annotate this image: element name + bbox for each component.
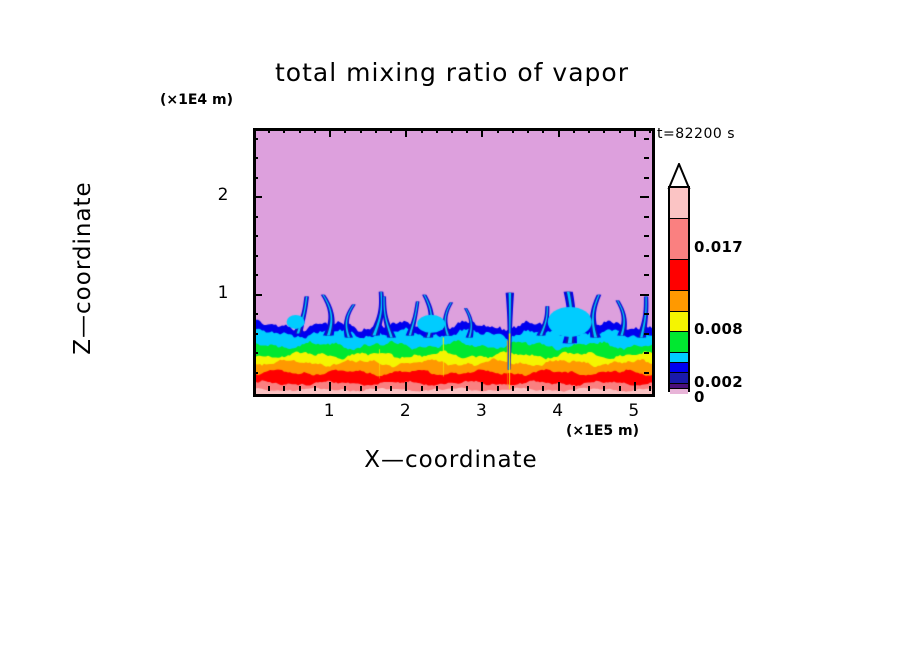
- z-unit-label: (×1E4 m): [160, 92, 233, 108]
- colorbar-band: [670, 291, 688, 312]
- colorbar-band: [670, 353, 688, 363]
- colorbar-band: [670, 219, 688, 260]
- colorbar-band: [670, 389, 688, 394]
- contour-field: [256, 131, 652, 394]
- colorbar-band: [670, 373, 688, 383]
- x-tick-label: 4: [538, 401, 578, 421]
- page-title: total mixing ratio of vapor: [0, 58, 904, 87]
- contour-plot-area: [253, 128, 655, 397]
- x-tick-label: 5: [614, 401, 654, 421]
- colorbar-band: [670, 260, 688, 291]
- x-unit-label: (×1E5 m): [566, 423, 639, 439]
- y-axis-title: Z—coordinate: [70, 128, 96, 408]
- x-tick-label: 2: [385, 401, 425, 421]
- x-tick-label: 1: [309, 401, 349, 421]
- colorbar-tick-label: 0.008: [694, 320, 743, 338]
- colorbar-tick-label: 0.002: [694, 373, 743, 391]
- colorbar-band: [670, 332, 688, 353]
- x-tick-label: 3: [461, 401, 501, 421]
- colorbar-band: [670, 312, 688, 333]
- time-annotation: t=82200 s: [657, 126, 735, 142]
- y-tick-label: 1: [205, 283, 241, 303]
- colorbar-tick-label: 0: [694, 388, 705, 406]
- x-axis-title: X—coordinate: [253, 447, 649, 473]
- colorbar-band: [670, 188, 688, 219]
- colorbar[interactable]: [668, 186, 690, 392]
- y-tick-label: 2: [205, 185, 241, 205]
- colorbar-tick-label: 0.017: [694, 238, 743, 256]
- colorbar-band: [670, 363, 688, 373]
